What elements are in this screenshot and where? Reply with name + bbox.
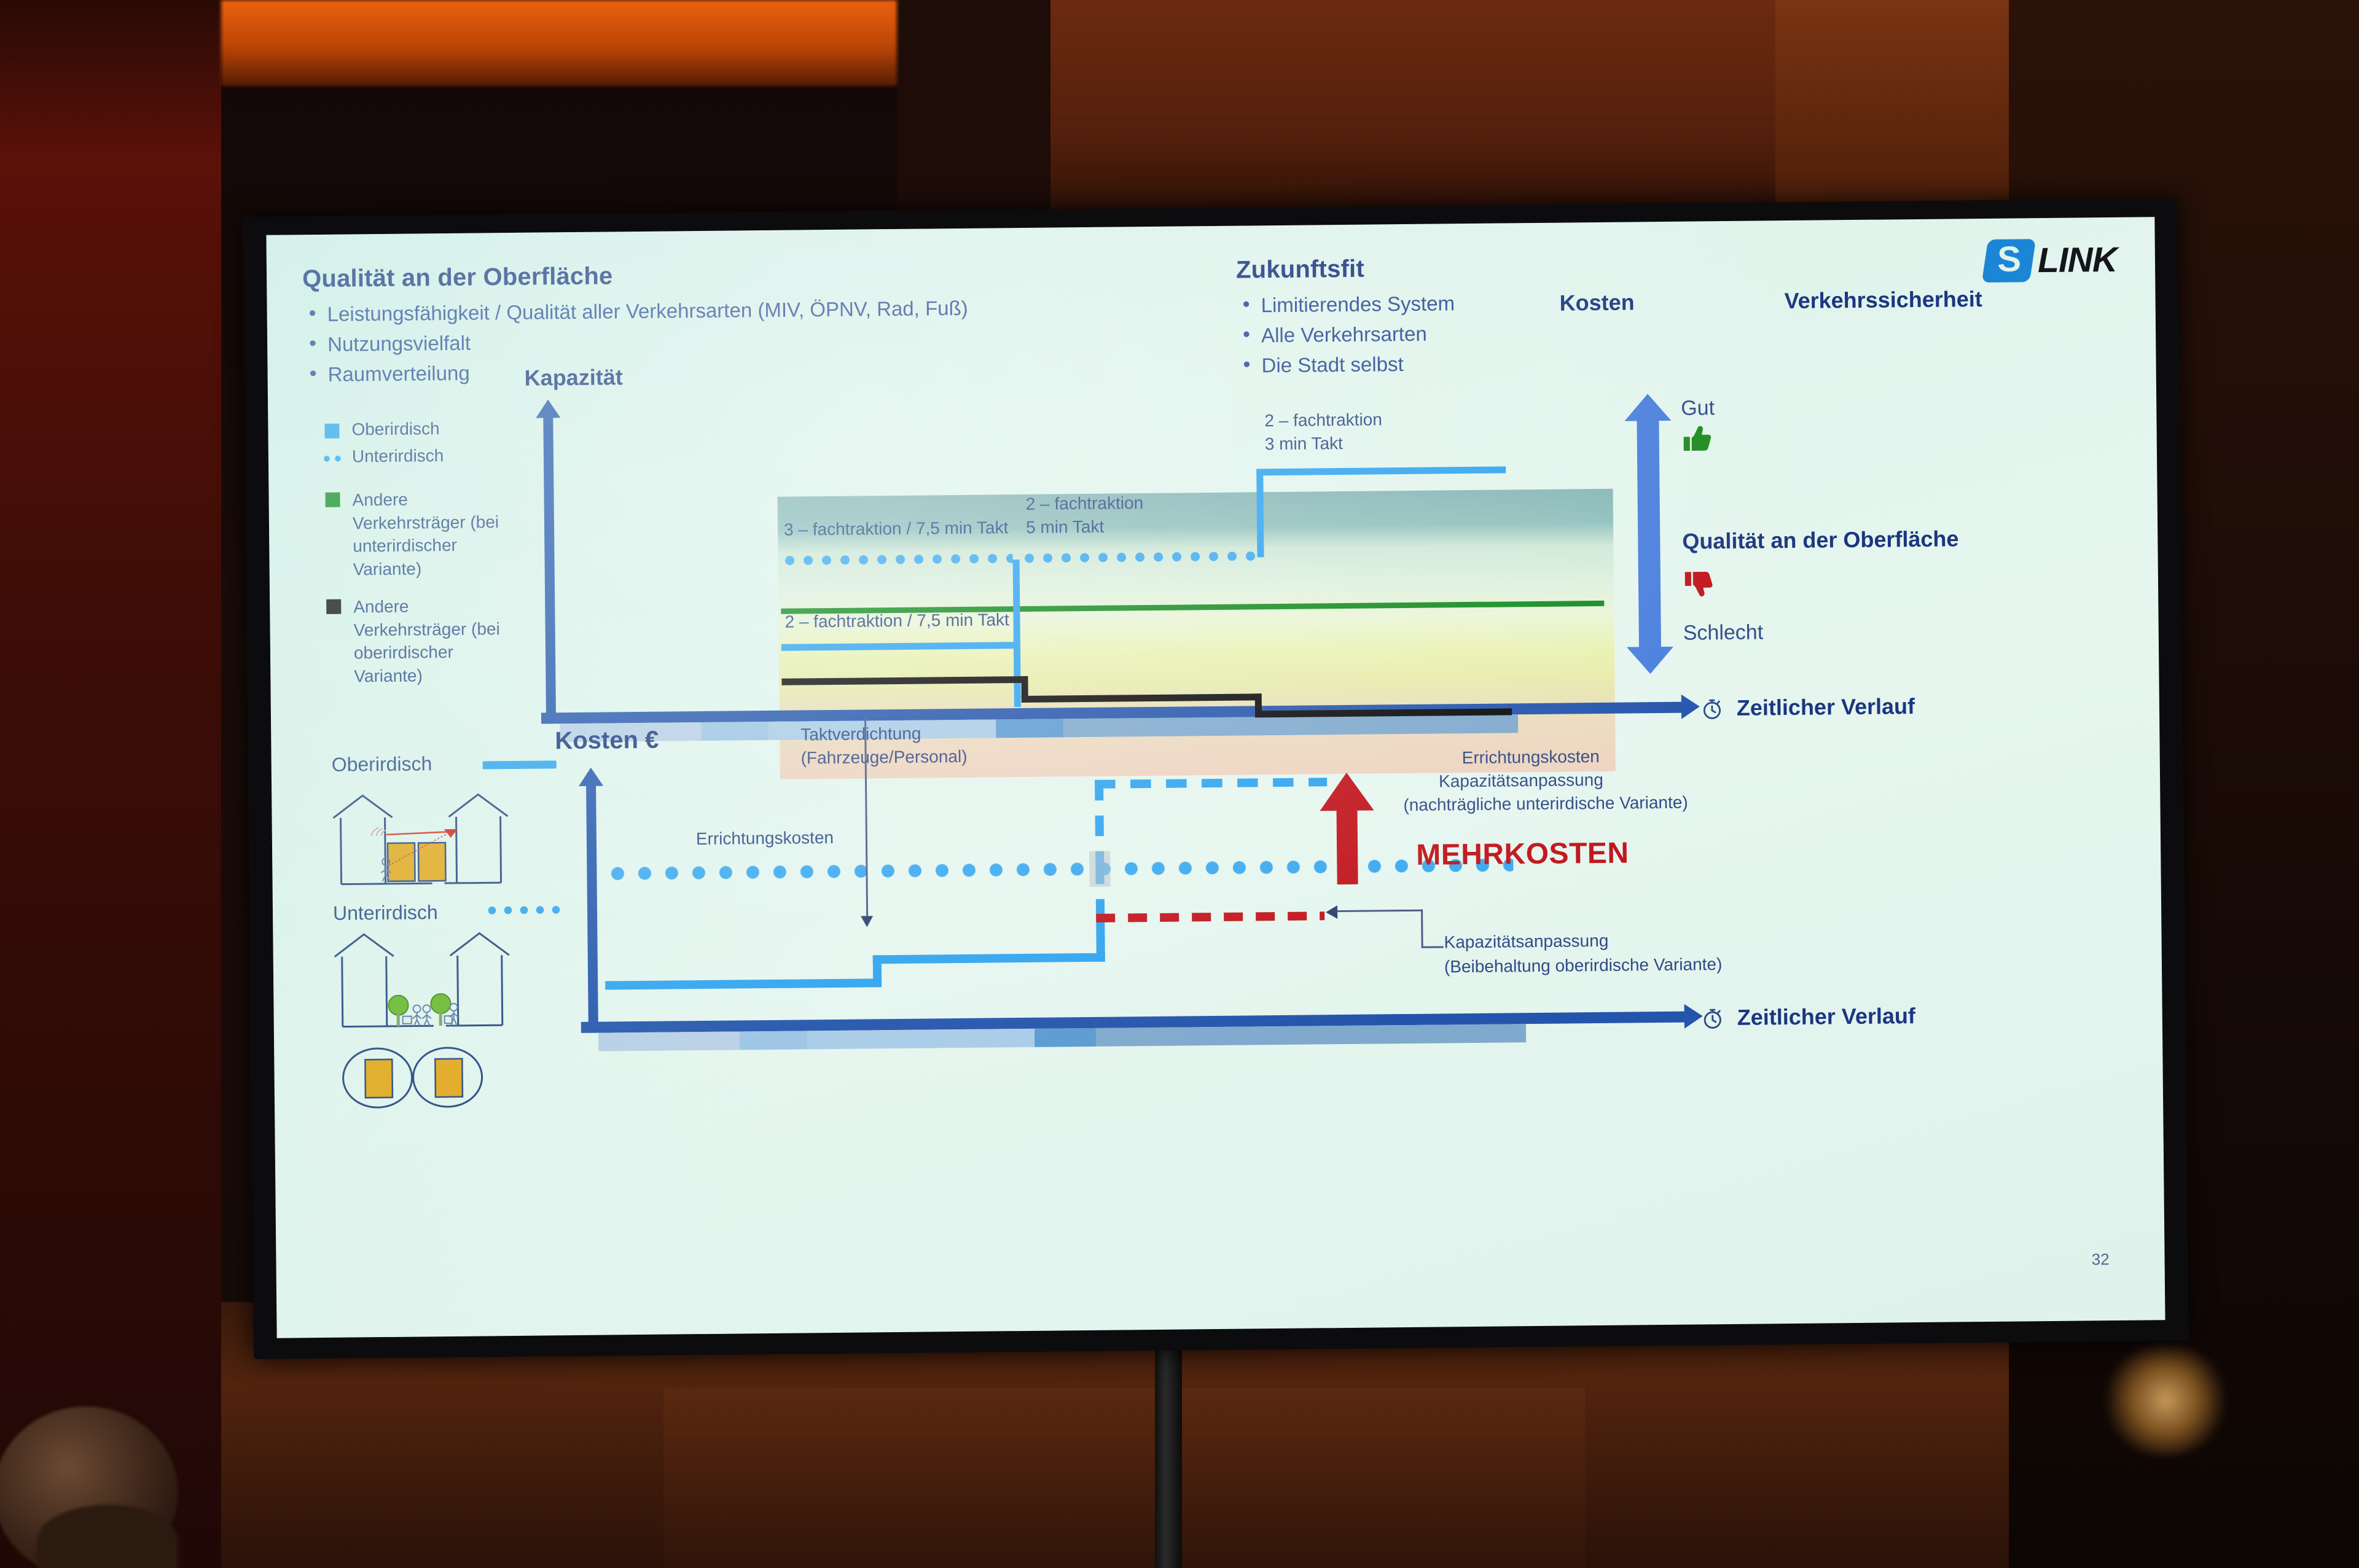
- wall-panel-lower-inner: [663, 1388, 1585, 1568]
- display-screen: S LINK Qualität an der Oberfläche Leistu…: [266, 217, 2165, 1338]
- page-number: 32: [2092, 1250, 2110, 1269]
- lower-chart-y-arrow-icon: [579, 768, 603, 786]
- header-left-bullets: Leistungsfähigkeit / Qualität aller Verk…: [302, 291, 1212, 390]
- quality-scale-bar: [1637, 419, 1661, 648]
- lower-chart-annotation-right-line2: Kapazitätsanpassung: [1439, 769, 1603, 794]
- upper-chart-annotation-2-line2: 5 min Takt: [1026, 516, 1104, 539]
- legend-item-andere-unterirdisch: Andere Verkehrsträger (bei unterirdische…: [325, 487, 511, 593]
- upper-chart-annotation-2-line1: 2 – fachtraktion: [1026, 492, 1144, 516]
- stopwatch-icon: [1700, 1006, 1725, 1031]
- lower-chart-dashed-red: [1096, 911, 1324, 922]
- quality-scale-arrow-up-icon: [1624, 394, 1671, 421]
- legend-item-andere-oberirdisch: Andere Verkehrsträger (bei oberirdischer…: [326, 594, 512, 700]
- upper-chart-line-black-riser-1: [1021, 676, 1028, 698]
- legend-label: Unterirdisch: [352, 446, 444, 466]
- upper-chart-x-arrow-icon: [1681, 694, 1700, 719]
- lower-chart-annotation-taktverdichtung-line2: (Fahrzeuge/Personal): [800, 746, 967, 770]
- slink-logo: S LINK: [1985, 238, 2118, 283]
- mehrkosten-label: MEHRKOSTEN: [1416, 837, 1629, 872]
- kapazitaetsanpassung-leader-h1: [1337, 910, 1423, 912]
- lower-chart-annotation-taktverdichtung-line1: Taktverdichtung: [800, 723, 921, 747]
- thumbs-up-icon: [1681, 421, 1718, 458]
- quality-scale-top-label: Gut: [1681, 394, 1715, 422]
- tv-stand-pole: [1155, 1339, 1182, 1568]
- upper-chart-annotation-4: 2 – fachtraktion / 7,5 min Takt: [784, 609, 1009, 633]
- tram-car-1: [388, 843, 415, 881]
- legend-item-unterirdisch: Unterirdisch: [325, 445, 509, 478]
- header-left-title: Qualität an der Oberfläche: [302, 262, 613, 293]
- upper-chart-annotation-3-line2: 3 min Takt: [1265, 432, 1343, 456]
- slink-logo-text: LINK: [2038, 240, 2118, 281]
- upper-chart-line-unterirdisch-3: [1256, 466, 1506, 475]
- quality-scale-arrow-down-icon: [1627, 647, 1673, 674]
- thumbs-down-icon: [1683, 565, 1720, 601]
- legend-swatch-square-icon: [326, 599, 341, 614]
- slink-logo-mark: S: [1982, 239, 2036, 283]
- illustration-oberirdisch-scene: [327, 778, 549, 896]
- tram-car-underground-2: [435, 1059, 463, 1097]
- stopwatch-icon: [1700, 696, 1724, 721]
- kapazitaetsanpassung-leader-v: [1421, 910, 1423, 948]
- legend-label: Andere Verkehrsträger (bei unterirdische…: [352, 487, 506, 580]
- house-roof-left: [333, 795, 392, 818]
- slink-logo-mark-letter: S: [1997, 241, 2021, 277]
- header-middle-bullet: Die Stadt selbst: [1237, 346, 1704, 381]
- lower-chart-line-oberirdisch-2: [873, 953, 1105, 964]
- legend-swatch-dots-icon: [321, 455, 342, 462]
- lower-chart-marker-highlight: [1089, 851, 1111, 887]
- header-middle-title: Zukunftsfit: [1236, 255, 1364, 284]
- wall-panel-left: [0, 0, 221, 1568]
- header-middle-bullet: Alle Verkehrsarten: [1237, 316, 1704, 351]
- illustration-legend-dotted-line: [484, 905, 564, 915]
- upper-chart-line-unterirdisch-riser: [1256, 471, 1264, 557]
- wall-panel-center: [1050, 0, 1775, 221]
- legend-label: Andere Verkehrsträger (bei oberirdischer…: [353, 594, 507, 687]
- mehrkosten-arrow-stem: [1336, 809, 1358, 884]
- mehrkosten-arrow-head-icon: [1320, 773, 1374, 811]
- screenshot-root: S LINK Qualität an der Oberfläche Leistu…: [0, 0, 2359, 1568]
- quality-scale-middle-label: Qualität an der Oberfläche: [1682, 526, 1959, 554]
- overhead-wire: [386, 832, 454, 835]
- lower-chart-y-axis-label: Kosten €: [555, 727, 659, 755]
- lower-chart-y-axis: [586, 785, 598, 1031]
- illustration-label-unterirdisch: Unterirdisch: [333, 899, 438, 926]
- room-lamp-glow: [2101, 1345, 2230, 1456]
- upper-chart-annotation-3-line1: 2 – fachtraktion: [1264, 408, 1382, 432]
- lower-chart-annotation-errichtungskosten: Errichtungskosten: [696, 827, 834, 851]
- legend-swatch-square-icon: [325, 493, 340, 507]
- quality-scale-bottom-label: Schlecht: [1683, 618, 1764, 647]
- upper-chart-line-oberirdisch-riser: [1013, 560, 1021, 707]
- upper-chart-y-axis-label: Kapazität: [524, 364, 622, 391]
- tram-car-underground-1: [365, 1059, 393, 1098]
- legend-swatch-square-icon: [324, 424, 339, 439]
- house-roof-right: [448, 794, 507, 817]
- illustration-legend-solid-line: [483, 760, 557, 769]
- lower-chart-annotation-right-line3: (nachträgliche unterirdische Variante): [1403, 792, 1688, 817]
- tree-2: [431, 994, 450, 1026]
- taktverdichtung-leader-arrow-icon: [861, 916, 873, 927]
- lower-chart-line-errichtungskosten: [604, 858, 1513, 880]
- lower-chart-annotation-kapazitaet-line1: Kapazitätsanpassung: [1444, 930, 1608, 954]
- lower-chart-annotation-kapazitaet-line2: (Beibehaltung oberirdische Variante): [1444, 953, 1723, 978]
- presentation-display: S LINK Qualität an der Oberfläche Leistu…: [243, 198, 2189, 1359]
- ceiling-light-strip: [221, 0, 897, 86]
- lower-chart-dashed-top: [1095, 778, 1327, 789]
- legend-label: Oberirdisch: [351, 419, 439, 439]
- lower-chart-line-oberirdisch-1: [605, 978, 880, 989]
- illustration-label-oberirdisch: Oberirdisch: [332, 751, 432, 778]
- slide: S LINK Qualität an der Oberfläche Leistu…: [266, 217, 2165, 1338]
- upper-chart-y-axis: [543, 416, 556, 721]
- legend-item-oberirdisch: Oberirdisch: [324, 418, 509, 447]
- lower-chart-x-axis-label: Zeitlicher Verlauf: [1737, 1003, 1915, 1031]
- tram-car-2: [418, 843, 446, 881]
- header-column-verkehrssicherheit: Verkehrssicherheit: [1784, 286, 1982, 314]
- lower-chart-annotation-right-line1: Errichtungskosten: [1462, 746, 1600, 770]
- kapazitaetsanpassung-leader-arrow-icon: [1326, 905, 1337, 919]
- upper-chart-annotation-1: 3 – fachtraktion / 7,5 min Takt: [784, 517, 1009, 541]
- upper-chart-x-axis-label: Zeitlicher Verlauf: [1737, 693, 1915, 721]
- upper-chart-y-arrow-icon: [536, 399, 560, 418]
- kapazitaetsanpassung-leader-h2: [1422, 946, 1444, 948]
- header-column-kosten: Kosten: [1559, 289, 1634, 316]
- chart-legend: Oberirdisch Unterirdisch Andere Verkehrs…: [324, 418, 511, 700]
- illustration-unterirdisch-scene: [328, 925, 550, 1043]
- illustration-underground-tunnel: [339, 1042, 493, 1112]
- tree-1: [388, 996, 408, 1026]
